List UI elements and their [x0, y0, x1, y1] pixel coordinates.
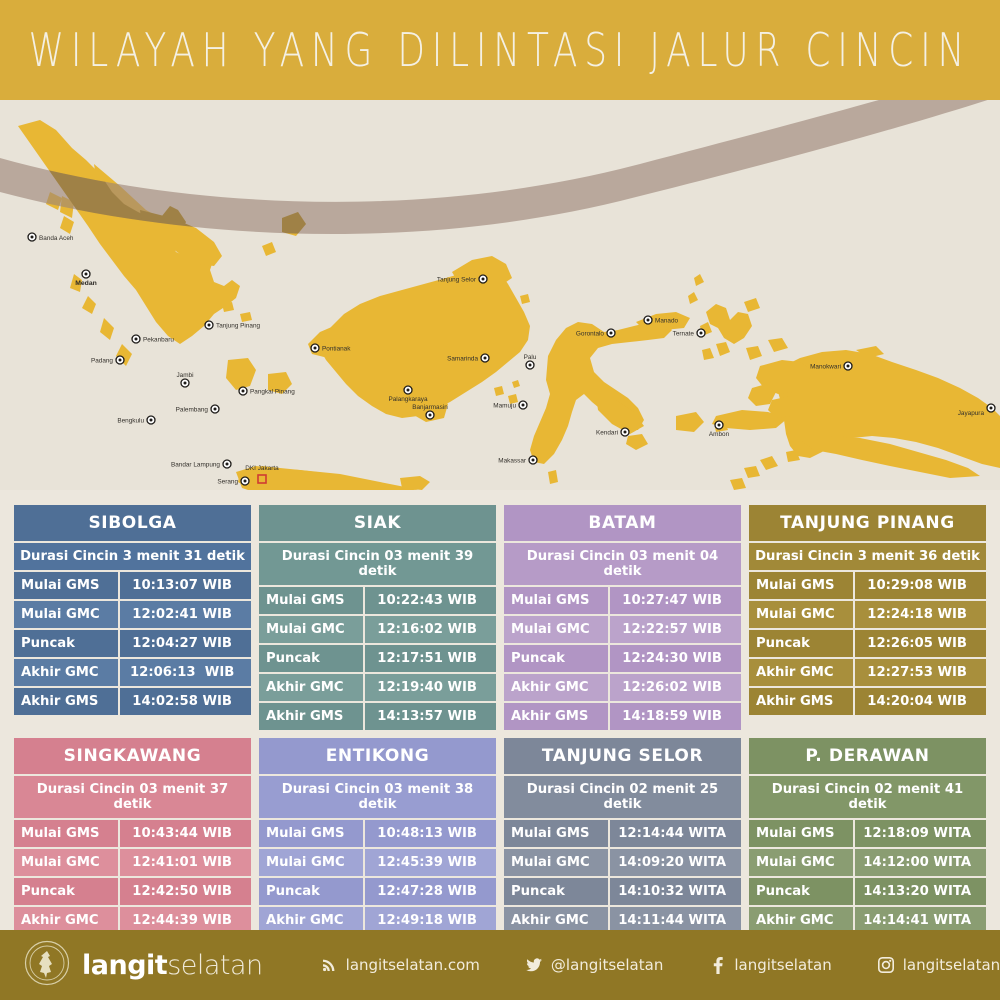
social-links: langitselatan.com@langitselatanlangitsel…	[321, 956, 1000, 974]
table-row: Mulai GMC12:41:01 WIB	[14, 849, 251, 876]
city-label: Manokwari	[810, 364, 841, 371]
row-value: 12:27:53 WIB	[855, 659, 986, 686]
social-label: langitselatanmedia	[903, 956, 1000, 974]
city-dot-center-icon	[718, 424, 721, 427]
table-row: Puncak12:26:05 WIB	[749, 630, 986, 657]
row-value: 12:41:01 WIB	[120, 849, 251, 876]
facebook-icon	[709, 957, 726, 974]
city-marker-ternate: Ternate	[673, 329, 705, 338]
city-marker-mamuju: Mamuju	[493, 401, 527, 410]
row-label: Puncak	[504, 878, 608, 905]
table-row: Akhir GMC12:19:40 WIB	[259, 674, 496, 701]
card-duration: Durasi Cincin 03 menit 04 detik	[504, 543, 741, 585]
row-value: 12:26:02 WIB	[610, 674, 741, 701]
city-label: Bandar Lampung	[171, 462, 220, 469]
city-dot-center-icon	[482, 278, 485, 281]
row-label: Mulai GMC	[14, 601, 118, 628]
card-sibolga: SIBOLGADurasi Cincin 3 menit 31 detikMul…	[14, 505, 251, 730]
city-marker-samarinda: Samarinda	[447, 354, 489, 363]
city-label: Ternate	[673, 331, 695, 338]
city-label: Padang	[91, 358, 113, 365]
row-value: 10:22:43 WIB	[365, 587, 496, 614]
row-label: Puncak	[504, 645, 608, 672]
city-marker-kendari: Kendari	[596, 428, 629, 437]
row-value: 14:18:59 WIB	[610, 703, 741, 730]
table-row: Akhir GMC12:26:02 WIB	[504, 674, 741, 701]
row-value: 12:24:30 WIB	[610, 645, 741, 672]
brand-wordmark-bold: langit	[82, 950, 167, 981]
city-label: Pangkal Pinang	[250, 389, 295, 396]
city-label: Jambi	[176, 372, 193, 379]
table-row: Mulai GMC14:09:20 WITA	[504, 849, 741, 876]
city-dot-center-icon	[610, 332, 613, 335]
row-label: Mulai GMC	[259, 849, 363, 876]
social-link-rss[interactable]: langitselatan.com	[321, 956, 480, 974]
card-duration: Durasi Cincin 3 menit 36 detik	[749, 543, 986, 570]
row-label: Mulai GMC	[749, 849, 853, 876]
table-row: Puncak14:10:32 WITA	[504, 878, 741, 905]
row-label: Mulai GMS	[504, 820, 608, 847]
table-row: Mulai GMS10:48:13 WIB	[259, 820, 496, 847]
row-value: 14:20:04 WIB	[855, 688, 986, 715]
card-duration: Durasi Cincin 3 menit 31 detik	[14, 543, 251, 570]
row-value: 12:06:13 WIB	[120, 659, 251, 686]
row-value: 12:18:09 WITA	[855, 820, 986, 847]
row-label: Akhir GMC	[14, 659, 118, 686]
card-title: SIBOLGA	[14, 505, 251, 541]
city-label: Palembang	[176, 407, 209, 414]
table-row: Mulai GMC12:45:39 WIB	[259, 849, 496, 876]
city-dot-center-icon	[184, 382, 187, 385]
city-dot-center-icon	[85, 273, 88, 276]
city-label: Gorontalo	[576, 331, 605, 338]
city-dot-center-icon	[208, 324, 211, 327]
card-duration: Durasi Cincin 02 menit 25 detik	[504, 776, 741, 818]
social-link-instagram[interactable]: langitselatanmedia	[878, 956, 1000, 974]
social-label: @langitselatan	[551, 956, 663, 974]
row-value: 12:16:02 WIB	[365, 616, 496, 643]
card-duration: Durasi Cincin 02 menit 41 detik	[749, 776, 986, 818]
city-dot-center-icon	[624, 431, 627, 434]
brand-wordmark: langitselatan	[82, 950, 263, 981]
city-marker-serang: Serang	[217, 477, 249, 486]
row-value: 12:22:57 WIB	[610, 616, 741, 643]
city-dot-center-icon	[700, 332, 703, 335]
row-value: 12:45:39 WIB	[365, 849, 496, 876]
page-header: WILAYAH YANG DILINTASI JALUR CINCIN	[0, 0, 1000, 100]
city-label: Palu	[524, 354, 537, 361]
row-value: 12:47:28 WIB	[365, 878, 496, 905]
city-timing-cards: SIBOLGADurasi Cincin 3 menit 31 detikMul…	[14, 505, 986, 963]
table-row: Akhir GMS14:18:59 WIB	[504, 703, 741, 730]
city-marker-bengkulu: Bengkulu	[117, 416, 155, 425]
city-label: Bengkulu	[117, 418, 144, 425]
row-value: 12:14:44 WITA	[610, 820, 741, 847]
table-row: Akhir GMS14:20:04 WIB	[749, 688, 986, 715]
city-dot-center-icon	[532, 459, 535, 462]
row-label: Mulai GMC	[259, 616, 363, 643]
city-dot-center-icon	[522, 404, 525, 407]
row-label: Puncak	[749, 630, 853, 657]
row-label: Mulai GMS	[14, 820, 118, 847]
card-duration: Durasi Cincin 03 menit 39 detik	[259, 543, 496, 585]
table-row: Akhir GMC12:06:13 WIB	[14, 659, 251, 686]
city-label: Medan	[75, 280, 97, 287]
card-title: ENTIKONG	[259, 738, 496, 774]
social-label: langitselatan	[734, 956, 831, 974]
card-title: TANJUNG SELOR	[504, 738, 741, 774]
table-row: Akhir GMS14:13:57 WIB	[259, 703, 496, 730]
row-label: Akhir GMC	[749, 659, 853, 686]
row-label: Mulai GMS	[14, 572, 118, 599]
city-dot-center-icon	[242, 390, 245, 393]
table-row: Akhir GMC12:27:53 WIB	[749, 659, 986, 686]
row-label: Puncak	[14, 878, 118, 905]
row-label: Akhir GMS	[259, 703, 363, 730]
table-row: Mulai GMC12:02:41 WIB	[14, 601, 251, 628]
table-row: Puncak12:04:27 WIB	[14, 630, 251, 657]
row-label: Mulai GMS	[259, 820, 363, 847]
row-label: Mulai GMS	[749, 572, 853, 599]
city-dot-center-icon	[484, 357, 487, 360]
city-label: Makassar	[498, 458, 527, 465]
city-dot-center-icon	[990, 407, 993, 410]
card-title: P. DERAWAN	[749, 738, 986, 774]
table-row: Mulai GMC12:22:57 WIB	[504, 616, 741, 643]
card-duration: Durasi Cincin 03 menit 38 detik	[259, 776, 496, 818]
table-row: Mulai GMC14:12:00 WITA	[749, 849, 986, 876]
city-dot-center-icon	[529, 364, 532, 367]
table-row: Mulai GMS10:13:07 WIB	[14, 572, 251, 599]
city-dot-center-icon	[429, 414, 432, 417]
table-row: Mulai GMS12:18:09 WITA	[749, 820, 986, 847]
city-dot-center-icon	[407, 389, 410, 392]
card-batam: BATAMDurasi Cincin 03 menit 04 detikMula…	[504, 505, 741, 730]
city-marker-pontianak: Pontianak	[311, 344, 351, 353]
card-title: SINGKAWANG	[14, 738, 251, 774]
row-label: Akhir GMS	[504, 703, 608, 730]
city-marker-palembang: Palembang	[176, 405, 219, 414]
row-value: 10:48:13 WIB	[365, 820, 496, 847]
row-value: 10:29:08 WIB	[855, 572, 986, 599]
row-value: 14:13:57 WIB	[365, 703, 496, 730]
city-dot-center-icon	[135, 338, 138, 341]
city-label: Pekanbaru	[143, 337, 174, 344]
table-row: Puncak12:24:30 WIB	[504, 645, 741, 672]
row-value: 12:19:40 WIB	[365, 674, 496, 701]
brand-logo[interactable]: langitselatan	[24, 940, 263, 991]
row-value: 12:42:50 WIB	[120, 878, 251, 905]
row-value: 14:09:20 WITA	[610, 849, 741, 876]
city-label: Banda Aceh	[39, 235, 74, 242]
twitter-icon	[526, 957, 543, 974]
table-row: Mulai GMS12:14:44 WITA	[504, 820, 741, 847]
card-title: SIAK	[259, 505, 496, 541]
brand-wordmark-light: selatan	[167, 950, 262, 981]
card-title: BATAM	[504, 505, 741, 541]
city-label: Pontianak	[322, 346, 351, 353]
row-label: Mulai GMC	[504, 616, 608, 643]
city-dot-center-icon	[150, 419, 153, 422]
page-title: WILAYAH YANG DILINTASI JALUR CINCIN	[29, 23, 972, 77]
map-section: Banda AcehMedanTanjung PinangPekanbaruPa…	[0, 100, 1000, 490]
row-label: Akhir GMC	[259, 674, 363, 701]
row-label: Puncak	[259, 878, 363, 905]
city-marker-padang: Padang	[91, 356, 124, 365]
social-link-facebook[interactable]: langitselatan	[709, 956, 831, 974]
city-marker-pekanbaru: Pekanbaru	[132, 335, 174, 344]
city-label: Serang	[217, 479, 238, 486]
row-label: Puncak	[259, 645, 363, 672]
row-label: Puncak	[749, 878, 853, 905]
row-value: 14:12:00 WITA	[855, 849, 986, 876]
row-label: Mulai GMS	[749, 820, 853, 847]
city-label: Manado	[655, 318, 679, 325]
city-marker-gorontalo: Gorontalo	[576, 329, 615, 338]
city-dot-center-icon	[31, 236, 34, 239]
table-row: Puncak12:42:50 WIB	[14, 878, 251, 905]
row-label: Mulai GMC	[749, 601, 853, 628]
city-dot-center-icon	[314, 347, 317, 350]
row-label: Akhir GMS	[749, 688, 853, 715]
rss-icon	[321, 957, 338, 974]
city-marker-manado: Manado	[644, 316, 679, 325]
city-dot-center-icon	[244, 480, 247, 483]
row-value: 14:13:20 WITA	[855, 878, 986, 905]
row-label: Mulai GMS	[259, 587, 363, 614]
social-label: langitselatan.com	[346, 956, 480, 974]
city-dot-center-icon	[226, 463, 229, 466]
social-link-twitter[interactable]: @langitselatan	[526, 956, 663, 974]
table-row: Mulai GMS10:43:44 WIB	[14, 820, 251, 847]
instagram-icon	[878, 957, 895, 974]
table-row: Mulai GMS10:27:47 WIB	[504, 587, 741, 614]
row-label: Mulai GMS	[504, 587, 608, 614]
city-label: Tanjung Selor	[437, 277, 477, 284]
table-row: Puncak14:13:20 WITA	[749, 878, 986, 905]
card-duration: Durasi Cincin 03 menit 37 detik	[14, 776, 251, 818]
card-tanjung-pinang: TANJUNG PINANGDurasi Cincin 3 menit 36 d…	[749, 505, 986, 730]
row-label: Akhir GMC	[504, 674, 608, 701]
city-label: Kendari	[596, 430, 618, 437]
city-dot-center-icon	[847, 365, 850, 368]
indonesia-map: Banda AcehMedanTanjung PinangPekanbaruPa…	[0, 100, 1000, 490]
row-value: 12:26:05 WIB	[855, 630, 986, 657]
row-label: Mulai GMC	[504, 849, 608, 876]
row-label: Puncak	[14, 630, 118, 657]
city-label: Ambon	[709, 431, 730, 438]
city-marker-manokwari: Manokwari	[810, 362, 852, 371]
table-row: Mulai GMC12:24:18 WIB	[749, 601, 986, 628]
city-label: DKI Jakarta	[245, 465, 279, 472]
city-dot-center-icon	[119, 359, 122, 362]
row-label: Mulai GMC	[14, 849, 118, 876]
card-title: TANJUNG PINANG	[749, 505, 986, 541]
row-value: 14:02:58 WIB	[120, 688, 251, 715]
capital-marker-icon	[258, 475, 266, 483]
city-dot-center-icon	[647, 319, 650, 322]
row-value: 12:17:51 WIB	[365, 645, 496, 672]
row-label: Akhir GMS	[14, 688, 118, 715]
city-label: Banjarmasin	[412, 404, 448, 411]
table-row: Puncak12:17:51 WIB	[259, 645, 496, 672]
row-value: 10:27:47 WIB	[610, 587, 741, 614]
row-value: 14:10:32 WITA	[610, 878, 741, 905]
row-value: 10:13:07 WIB	[120, 572, 251, 599]
table-row: Mulai GMS10:29:08 WIB	[749, 572, 986, 599]
row-value: 12:24:18 WIB	[855, 601, 986, 628]
table-row: Puncak12:47:28 WIB	[259, 878, 496, 905]
city-label: Palangkaraya	[388, 396, 428, 403]
city-label: Tanjung Pinang	[216, 323, 261, 330]
row-value: 10:43:44 WIB	[120, 820, 251, 847]
city-marker-makassar: Makassar	[498, 456, 537, 465]
page-footer: langitselatan langitselatan.com@langitse…	[0, 930, 1000, 1000]
table-row: Mulai GMC12:16:02 WIB	[259, 616, 496, 643]
card-siak: SIAKDurasi Cincin 03 menit 39 detikMulai…	[259, 505, 496, 730]
city-label: Samarinda	[447, 356, 478, 363]
city-label: Mamuju	[493, 403, 516, 410]
city-label: Jayapura	[958, 410, 985, 417]
city-dot-center-icon	[214, 408, 217, 411]
row-value: 12:02:41 WIB	[120, 601, 251, 628]
langitselatan-seal-icon	[24, 940, 70, 991]
table-row: Akhir GMS14:02:58 WIB	[14, 688, 251, 715]
table-row: Mulai GMS10:22:43 WIB	[259, 587, 496, 614]
row-value: 12:04:27 WIB	[120, 630, 251, 657]
